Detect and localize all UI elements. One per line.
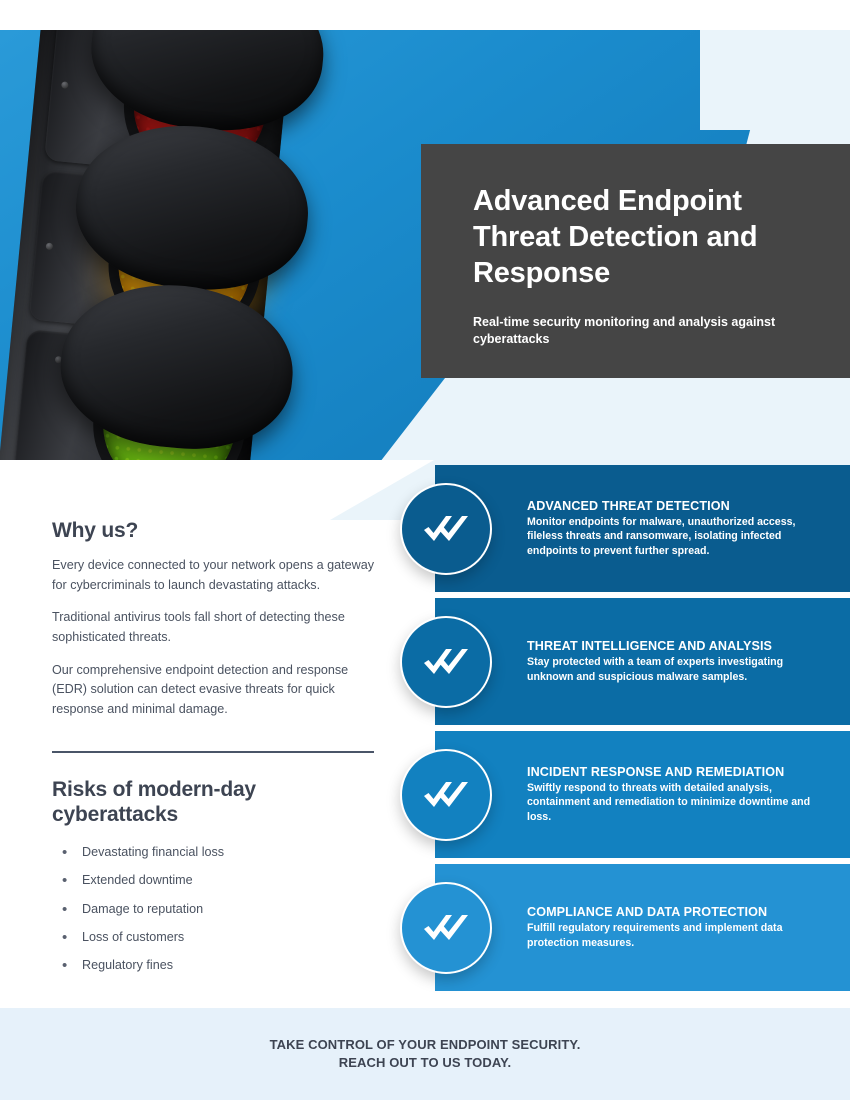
card-title: COMPLIANCE AND DATA PROTECTION: [527, 905, 832, 919]
cta-line-1: TAKE CONTROL OF YOUR ENDPOINT SECURITY.: [270, 1036, 581, 1054]
feature-card-incident-response-and-remediation: INCIDENT RESPONSE AND REMEDIATION Swiftl…: [0, 731, 850, 858]
page-title: Advanced Endpoint Threat Detection and R…: [473, 184, 804, 292]
traffic-light-image: [0, 30, 377, 460]
footer-band: TAKE CONTROL OF YOUR ENDPOINT SECURITY. …: [0, 1008, 850, 1100]
cta-line-2: REACH OUT TO US TODAY.: [270, 1054, 581, 1072]
card-title: INCIDENT RESPONSE AND REMEDIATION: [527, 765, 832, 779]
card-description: Stay protected with a team of experts in…: [527, 655, 832, 683]
card-description: Swiftly respond to threats with detailed…: [527, 781, 832, 823]
feature-card-advanced-threat-detection: ADVANCED THREAT DETECTION Monitor endpoi…: [0, 465, 850, 592]
double-check-icon: [400, 882, 492, 974]
card-text-block: COMPLIANCE AND DATA PROTECTION Fulfill r…: [527, 864, 832, 991]
double-check-icon: [400, 616, 492, 708]
card-title: THREAT INTELLIGENCE AND ANALYSIS: [527, 639, 832, 653]
double-check-icon: [400, 749, 492, 841]
title-card: Advanced Endpoint Threat Detection and R…: [421, 144, 850, 378]
double-check-icon: [400, 483, 492, 575]
call-to-action-text: TAKE CONTROL OF YOUR ENDPOINT SECURITY. …: [270, 1036, 581, 1073]
card-text-block: INCIDENT RESPONSE AND REMEDIATION Swiftl…: [527, 731, 832, 858]
card-description: Fulfill regulatory requirements and impl…: [527, 921, 832, 949]
infographic-page: Advanced Endpoint Threat Detection and R…: [0, 0, 850, 1100]
card-text-block: THREAT INTELLIGENCE AND ANALYSIS Stay pr…: [527, 598, 832, 725]
feature-card-compliance-and-data-protection: COMPLIANCE AND DATA PROTECTION Fulfill r…: [0, 864, 850, 991]
feature-card-list: ADVANCED THREAT DETECTION Monitor endpoi…: [0, 465, 850, 997]
feature-card-threat-intelligence-and-analysis: THREAT INTELLIGENCE AND ANALYSIS Stay pr…: [0, 598, 850, 725]
card-title: ADVANCED THREAT DETECTION: [527, 499, 832, 513]
card-description: Monitor endpoints for malware, unauthori…: [527, 515, 832, 557]
card-text-block: ADVANCED THREAT DETECTION Monitor endpoi…: [527, 465, 832, 592]
page-subtitle: Real-time security monitoring and analys…: [473, 314, 804, 349]
